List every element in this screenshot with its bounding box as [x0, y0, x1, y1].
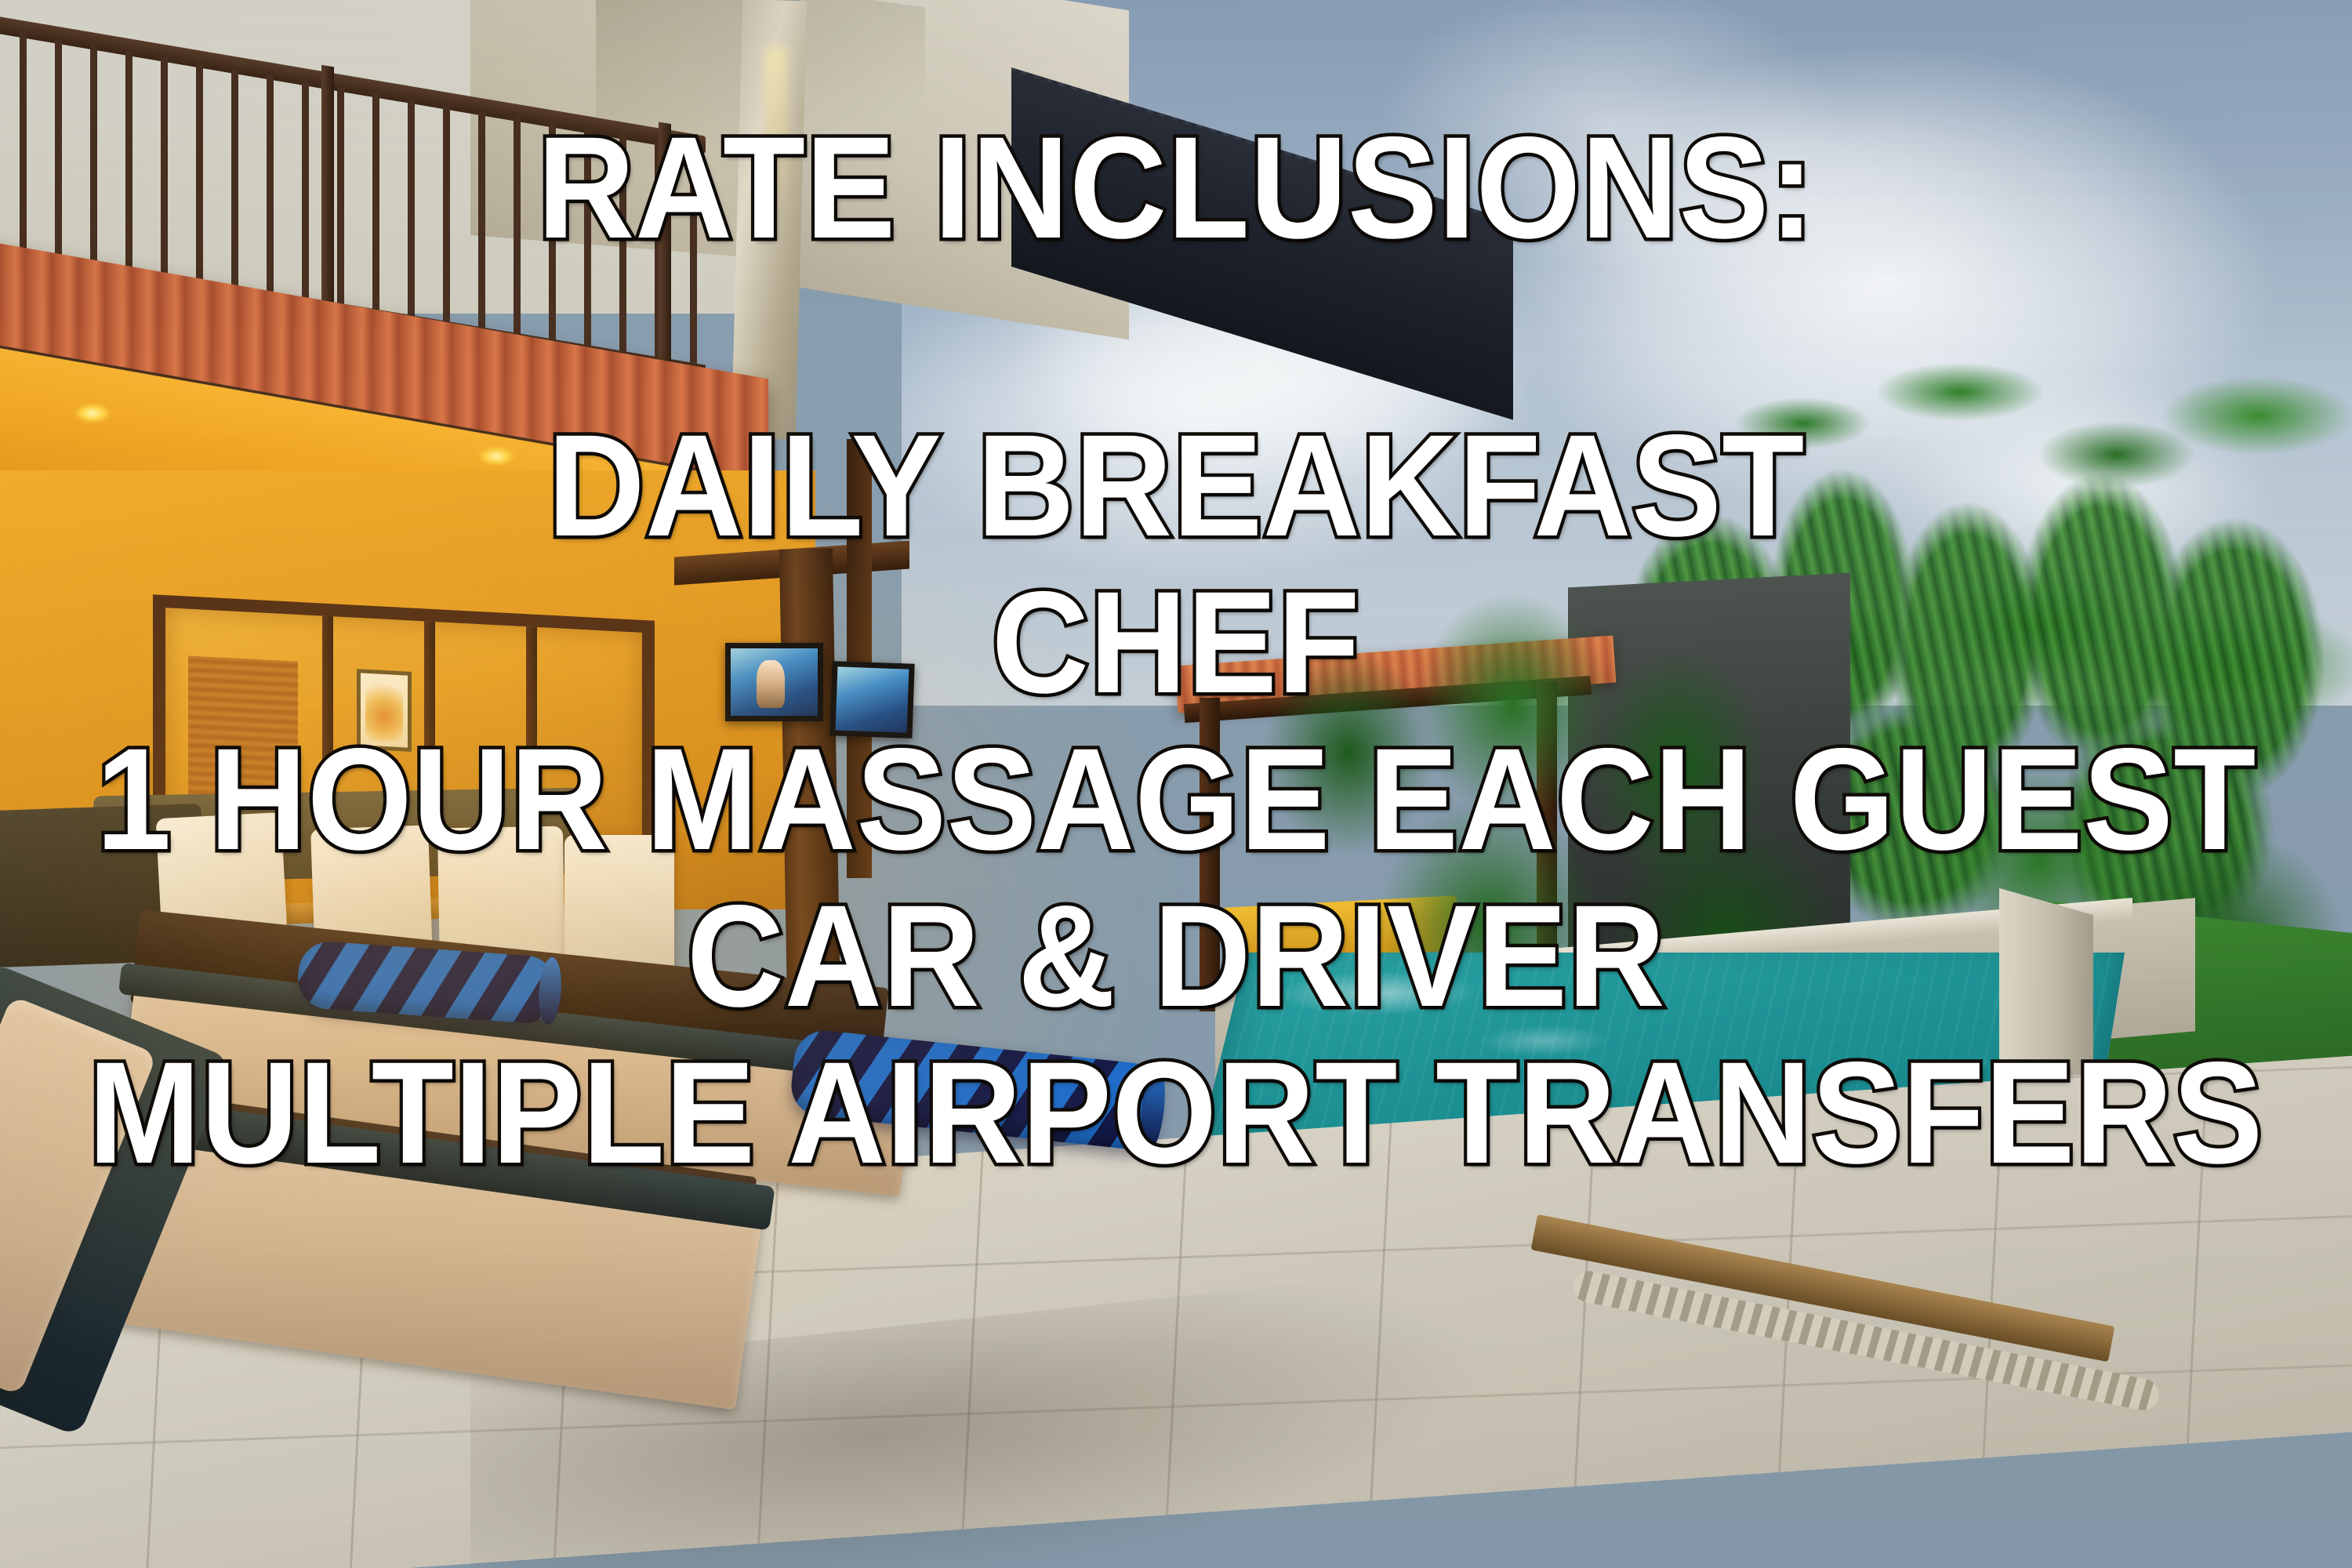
railing-post: [321, 65, 334, 318]
gazebo-post: [1200, 698, 1220, 1011]
tv-screen: [836, 666, 909, 732]
villa-photograph: [0, 0, 2352, 1568]
television: [725, 643, 823, 721]
television: [829, 661, 914, 739]
tv-screen: [731, 648, 818, 716]
railing-post: [659, 122, 671, 375]
promo-image: RATE INCLUSIONS: DAILY BREAKFAST CHEF 1 …: [0, 0, 2352, 1568]
tv-screen-figure: [757, 660, 785, 707]
ceiling-spotlight: [74, 404, 111, 423]
framed-artwork: [357, 669, 412, 752]
ceiling-spotlight: [478, 447, 514, 466]
wooden-column: [847, 439, 872, 878]
pillar-highlight: [764, 47, 788, 220]
